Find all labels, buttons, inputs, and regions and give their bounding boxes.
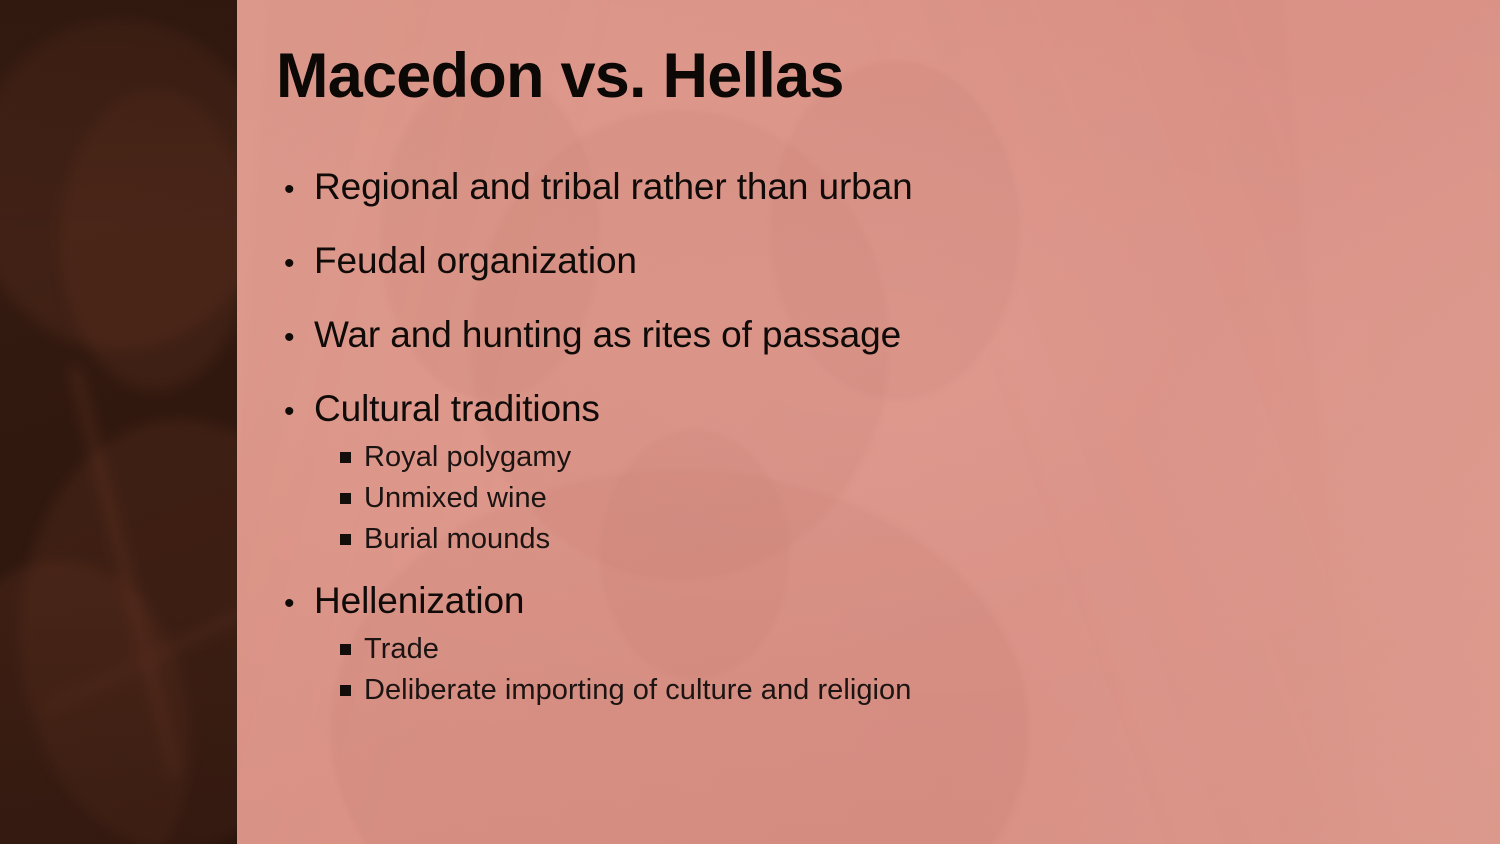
sub-bullet-item-5: Deliberate importing of culture and reli… — [283, 676, 1463, 705]
bullet-item-5: • Hellenization — [283, 582, 1463, 619]
bullet-item-4: • Cultural traditions — [283, 390, 1463, 427]
sub-bullet-text: Unmixed wine — [364, 484, 547, 513]
bullet-item-3: • War and hunting as rites of passage — [283, 316, 1463, 353]
bullet-text: War and hunting as rites of passage — [314, 316, 901, 353]
sub-bullet-text: Trade — [364, 635, 439, 664]
bullet-marker-square-icon — [340, 452, 364, 463]
bullet-item-2: • Feudal organization — [283, 242, 1463, 279]
bullet-text: Cultural traditions — [314, 390, 600, 427]
bullet-marker-dot-icon: • — [283, 397, 314, 427]
sub-bullet-item-2: Unmixed wine — [283, 484, 1463, 513]
bullet-marker-square-icon — [340, 534, 364, 545]
bullet-marker-dot-icon: • — [283, 589, 314, 619]
slide-title: Macedon vs. Hellas — [276, 45, 844, 108]
bullet-marker-dot-icon: • — [283, 175, 314, 205]
sub-bullet-text: Deliberate importing of culture and reli… — [364, 676, 911, 705]
side-accent-panel — [0, 0, 237, 844]
bullet-marker-dot-icon: • — [283, 249, 314, 279]
presentation-slide: Macedon vs. Hellas • Regional and tribal… — [0, 0, 1500, 844]
sub-bullet-item-3: Burial mounds — [283, 525, 1463, 554]
slide-content: Macedon vs. Hellas • Regional and tribal… — [276, 0, 1500, 844]
bullet-marker-square-icon — [340, 493, 364, 504]
bullet-list: • Regional and tribal rather than urban … — [283, 168, 1463, 705]
sub-bullet-item-4: Trade — [283, 635, 1463, 664]
sub-bullet-text: Burial mounds — [364, 525, 550, 554]
bullet-marker-square-icon — [340, 644, 364, 655]
bullet-text: Regional and tribal rather than urban — [314, 168, 913, 205]
sub-bullet-text: Royal polygamy — [364, 443, 571, 472]
section-spacer — [283, 554, 1463, 582]
bullet-marker-dot-icon: • — [283, 323, 314, 353]
bullet-item-1: • Regional and tribal rather than urban — [283, 168, 1463, 205]
bullet-marker-square-icon — [340, 685, 364, 696]
bullet-text: Feudal organization — [314, 242, 637, 279]
sub-bullet-item-1: Royal polygamy — [283, 443, 1463, 472]
bullet-text: Hellenization — [314, 582, 524, 619]
